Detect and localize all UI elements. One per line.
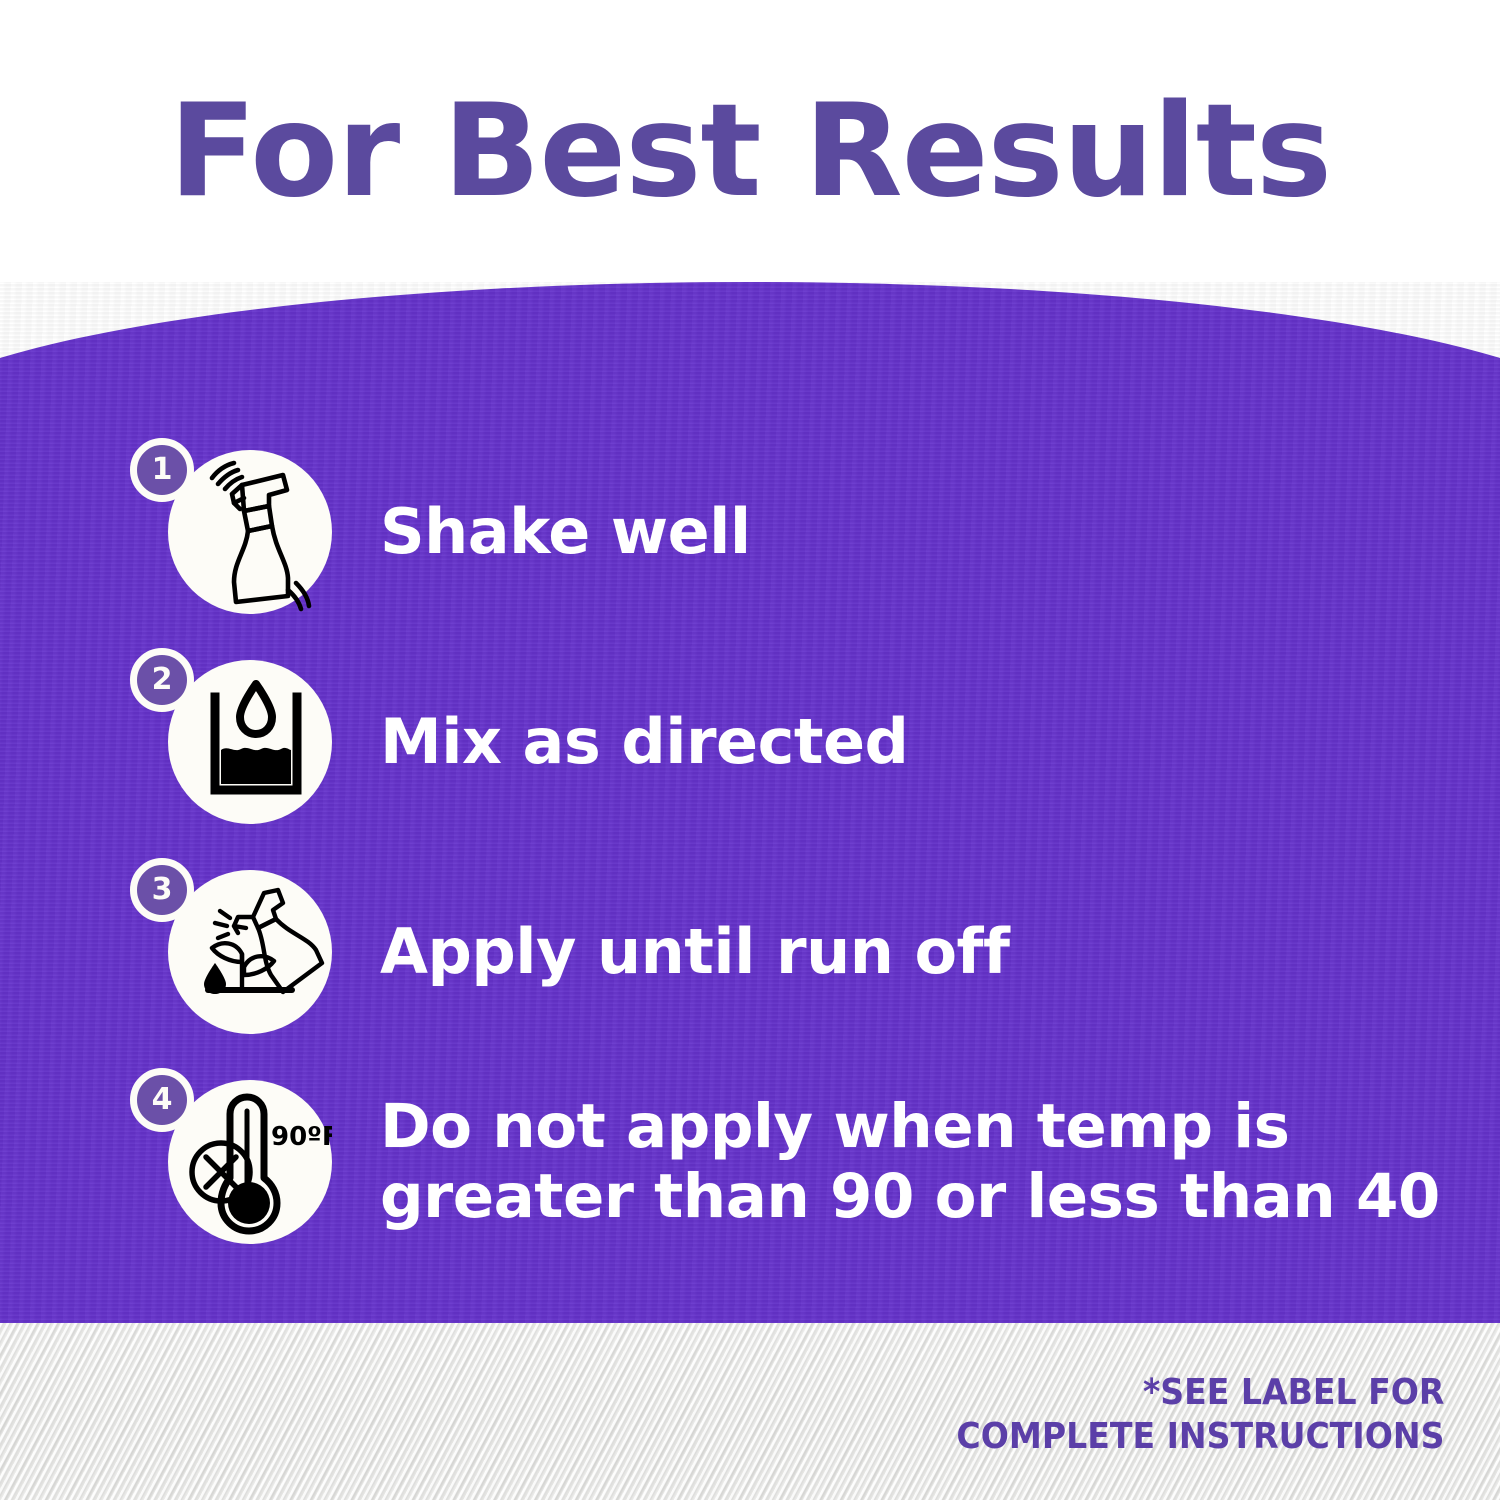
step-text-4: Do not apply when temp is greater than 9…: [380, 1092, 1440, 1231]
for-best-results-poster: For Best Results: [0, 0, 1500, 1500]
step-text-3: Apply until run off: [380, 917, 1009, 986]
step-icon-wrap-1: 1: [130, 432, 330, 632]
page-title: For Best Results: [0, 88, 1500, 216]
step-badge-4: 4: [130, 1068, 194, 1132]
step-icon-wrap-4: 90ºF + 4: [130, 1062, 330, 1262]
step-row-4: 90ºF + 4 Do not apply when temp is great…: [0, 1057, 1500, 1267]
step-row-1: 1 Shake well: [0, 432, 1500, 632]
step-row-3: 3 Apply until run off: [0, 852, 1500, 1052]
step-badge-3: 3: [130, 858, 194, 922]
step-icon-wrap-3: 3: [130, 852, 330, 1052]
thermometer-temp-label: 90ºF +: [271, 1122, 332, 1152]
step-badge-1: 1: [130, 438, 194, 502]
step-text-2: Mix as directed: [380, 707, 908, 776]
header-area: For Best Results: [0, 0, 1500, 300]
steps-list: 1 Shake well 2 Mix as directed: [0, 282, 1500, 1324]
step-text-4-line2: greater than 90 or less than 40: [380, 1162, 1440, 1232]
step-text-4-line1: Do not apply when temp is: [380, 1092, 1440, 1162]
step-row-2: 2 Mix as directed: [0, 642, 1500, 842]
step-icon-wrap-2: 2: [130, 642, 330, 842]
footer-note-line2: COMPLETE INSTRUCTIONS: [956, 1415, 1444, 1459]
footer-note: *SEE LABEL FOR COMPLETE INSTRUCTIONS: [956, 1371, 1444, 1459]
footer-area: *SEE LABEL FOR COMPLETE INSTRUCTIONS: [0, 1323, 1500, 1500]
step-text-1: Shake well: [380, 497, 751, 566]
footer-note-line1: *SEE LABEL FOR: [956, 1371, 1444, 1415]
step-badge-2: 2: [130, 648, 194, 712]
